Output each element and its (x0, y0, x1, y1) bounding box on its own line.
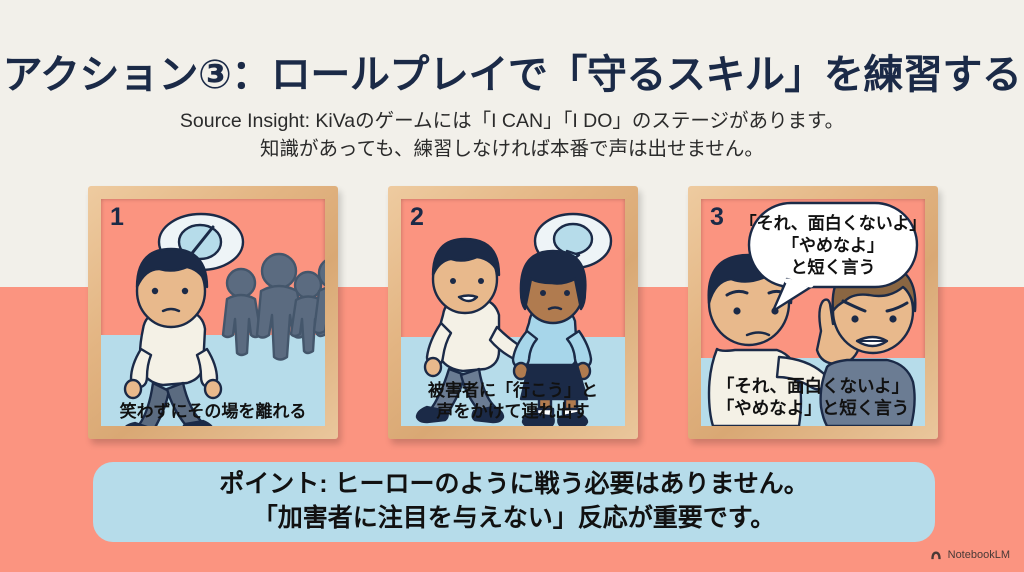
panel-2-caption-line-1: 被害者に「行こう」と (401, 380, 625, 401)
panel-2-number: 2 (410, 203, 424, 232)
illustration-panel-1: 1 (88, 186, 338, 439)
bubble-line-3: と短く言う (791, 257, 876, 277)
panel-3-scene: 3 (701, 199, 925, 426)
panel-3-caption: 「それ、面白くないよ」 「やめなよ」と短く言う (701, 376, 925, 420)
panel-1-caption-line-1: 笑わずにその場を離れる (101, 401, 325, 422)
notebooklm-label: NotebookLM (948, 549, 1010, 561)
panel-1-artwork (101, 199, 325, 426)
notebooklm-icon (929, 548, 943, 562)
panel-3-caption-line-1: 「それ、面白くないよ」 (701, 376, 925, 398)
illustration-panel-3: 3 (688, 186, 938, 439)
panel-1-number: 1 (110, 203, 124, 232)
notebooklm-watermark: NotebookLM (929, 548, 1010, 562)
subtitle-line-1: Source Insight: KiVaのゲームには「I CAN」「I DO」の… (0, 107, 1024, 135)
bubble-line-1: 「それ、面白くないよ」 (740, 213, 925, 233)
panel-3-caption-line-2: 「やめなよ」と短く言う (701, 398, 925, 420)
banner-line-1: ポイント: ヒーローのように戦う必要はありません。 (219, 468, 809, 502)
panel-1-caption: 笑わずにその場を離れる (101, 401, 325, 422)
banner-line-2: 「加害者に注目を与えない」反応が重要です。 (253, 502, 776, 536)
bubble-line-2: 「やめなよ」 (782, 235, 884, 255)
page-subtitle: Source Insight: KiVaのゲームには「I CAN」「I DO」の… (0, 107, 1024, 164)
subtitle-line-2: 知識があっても、練習しなければ本番で声は出せません。 (0, 135, 1024, 163)
panel-1-scene: 1 (101, 199, 325, 426)
panel-3-number: 3 (710, 203, 724, 232)
panel-2-caption-line-2: 声をかけて連れ出す (401, 401, 625, 422)
page-title: アクション③：ロールプレイで「守るスキル」を練習する (0, 42, 1024, 100)
illustration-panel-2: 2 (388, 186, 638, 439)
panel-2-scene: 2 (401, 199, 625, 426)
key-point-banner: ポイント: ヒーローのように戦う必要はありません。 「加害者に注目を与えない」反… (93, 462, 935, 542)
panel-2-caption: 被害者に「行こう」と 声をかけて連れ出す (401, 380, 625, 423)
slide-root: アクション③：ロールプレイで「守るスキル」を練習する Source Insigh… (0, 0, 1024, 572)
boy-figure (123, 249, 221, 426)
